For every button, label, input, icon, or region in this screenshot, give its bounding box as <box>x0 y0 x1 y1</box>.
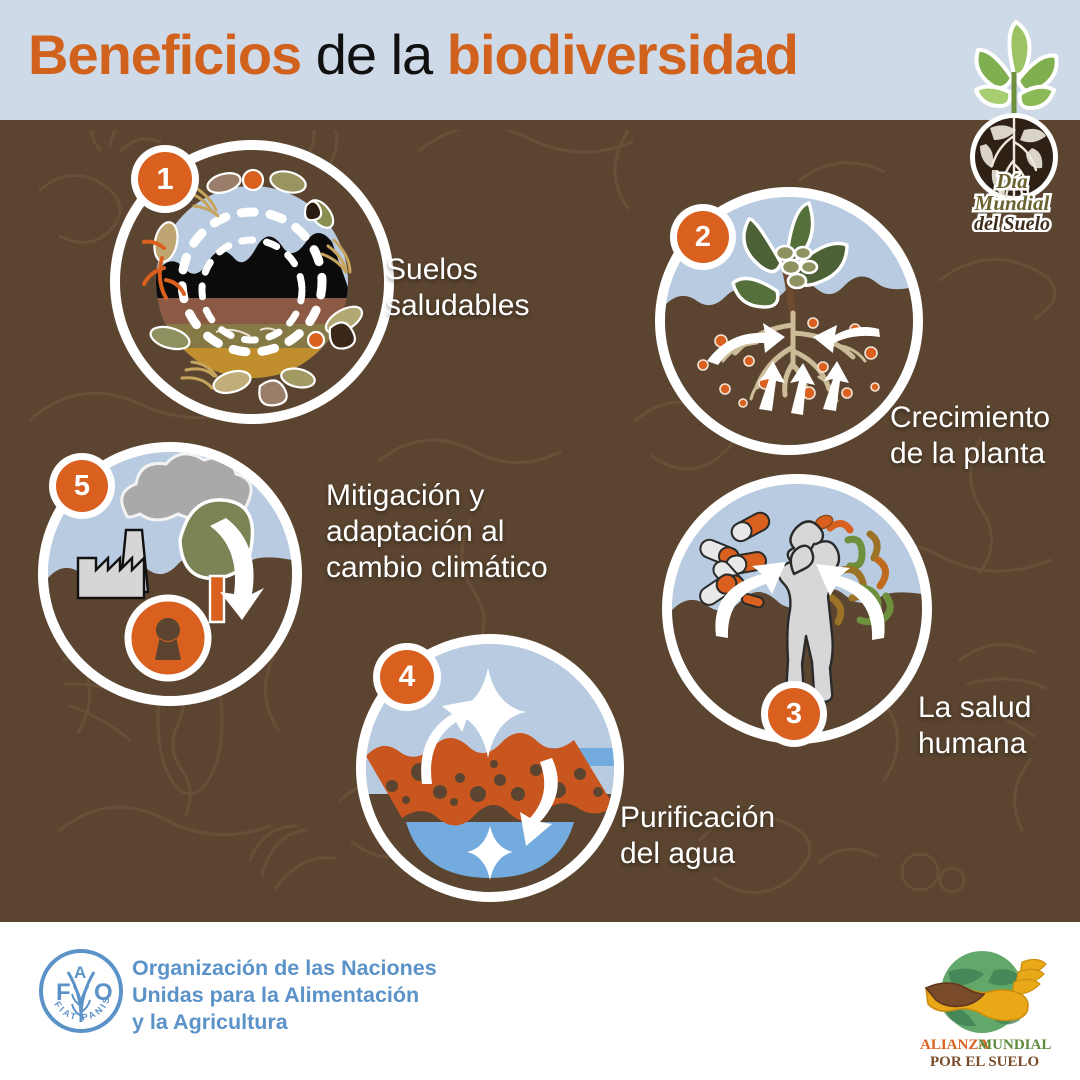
svg-text:Mundial: Mundial <box>974 191 1050 215</box>
title-accent-1: Beneficios <box>28 23 301 86</box>
world-soil-day-logo: Día Día Mundial Mundial del Suelo del Su… <box>948 12 1078 232</box>
benefit-2-number-badge: 2 <box>677 211 729 263</box>
fao-name-line-2: Unidas para la Alimentación <box>132 982 437 1009</box>
title-accent-2: biodiversidad <box>447 23 798 86</box>
svg-text:A: A <box>74 963 86 982</box>
fao-name-line-1: Organización de las Naciones <box>132 955 437 982</box>
benefit-4-number-badge: 4 <box>380 650 434 704</box>
benefit-3-number: 3 <box>786 698 802 731</box>
benefit-1-number: 1 <box>156 161 173 197</box>
header-band: Beneficios de la biodiversidad <box>0 0 1080 120</box>
svg-text:del Suelo: del Suelo <box>974 213 1050 232</box>
benefit-2-number: 2 <box>695 221 711 254</box>
benefit-2-label: Crecimiento de la planta <box>890 400 1050 472</box>
svg-text:Día: Día <box>995 169 1028 193</box>
fao-logo: F A O FIAT PANIS <box>38 948 124 1034</box>
benefit-5-label: Mitigación y adaptación al cambio climát… <box>326 478 548 586</box>
infographic-root: Beneficios de la biodiversidad <box>0 0 1080 1080</box>
fao-organization-name: Organización de las Naciones Unidas para… <box>132 955 437 1036</box>
benefit-3-number-badge: 3 <box>768 688 820 740</box>
page-title: Beneficios de la biodiversidad <box>28 22 798 87</box>
fao-name-line-3: y la Agricultura <box>132 1009 437 1036</box>
benefit-4-label: Purificación del agua <box>620 800 775 872</box>
gsp-word-mundial: MUNDIAL <box>978 1037 1051 1053</box>
benefit-1-label: Suelos saludables <box>386 252 529 324</box>
benefit-1-number-badge: 1 <box>138 152 192 206</box>
title-neutral: de la <box>301 23 447 86</box>
benefit-4-number: 4 <box>399 660 416 694</box>
benefit-5-number: 5 <box>74 470 90 503</box>
gsp-line-2: POR EL SUELO <box>930 1054 1039 1070</box>
global-soil-partnership-logo: ALIANZA MUNDIAL POR EL SUELO <box>902 938 1062 1070</box>
benefit-3-label: La salud humana <box>918 690 1031 762</box>
benefit-5-number-badge: 5 <box>56 460 108 512</box>
